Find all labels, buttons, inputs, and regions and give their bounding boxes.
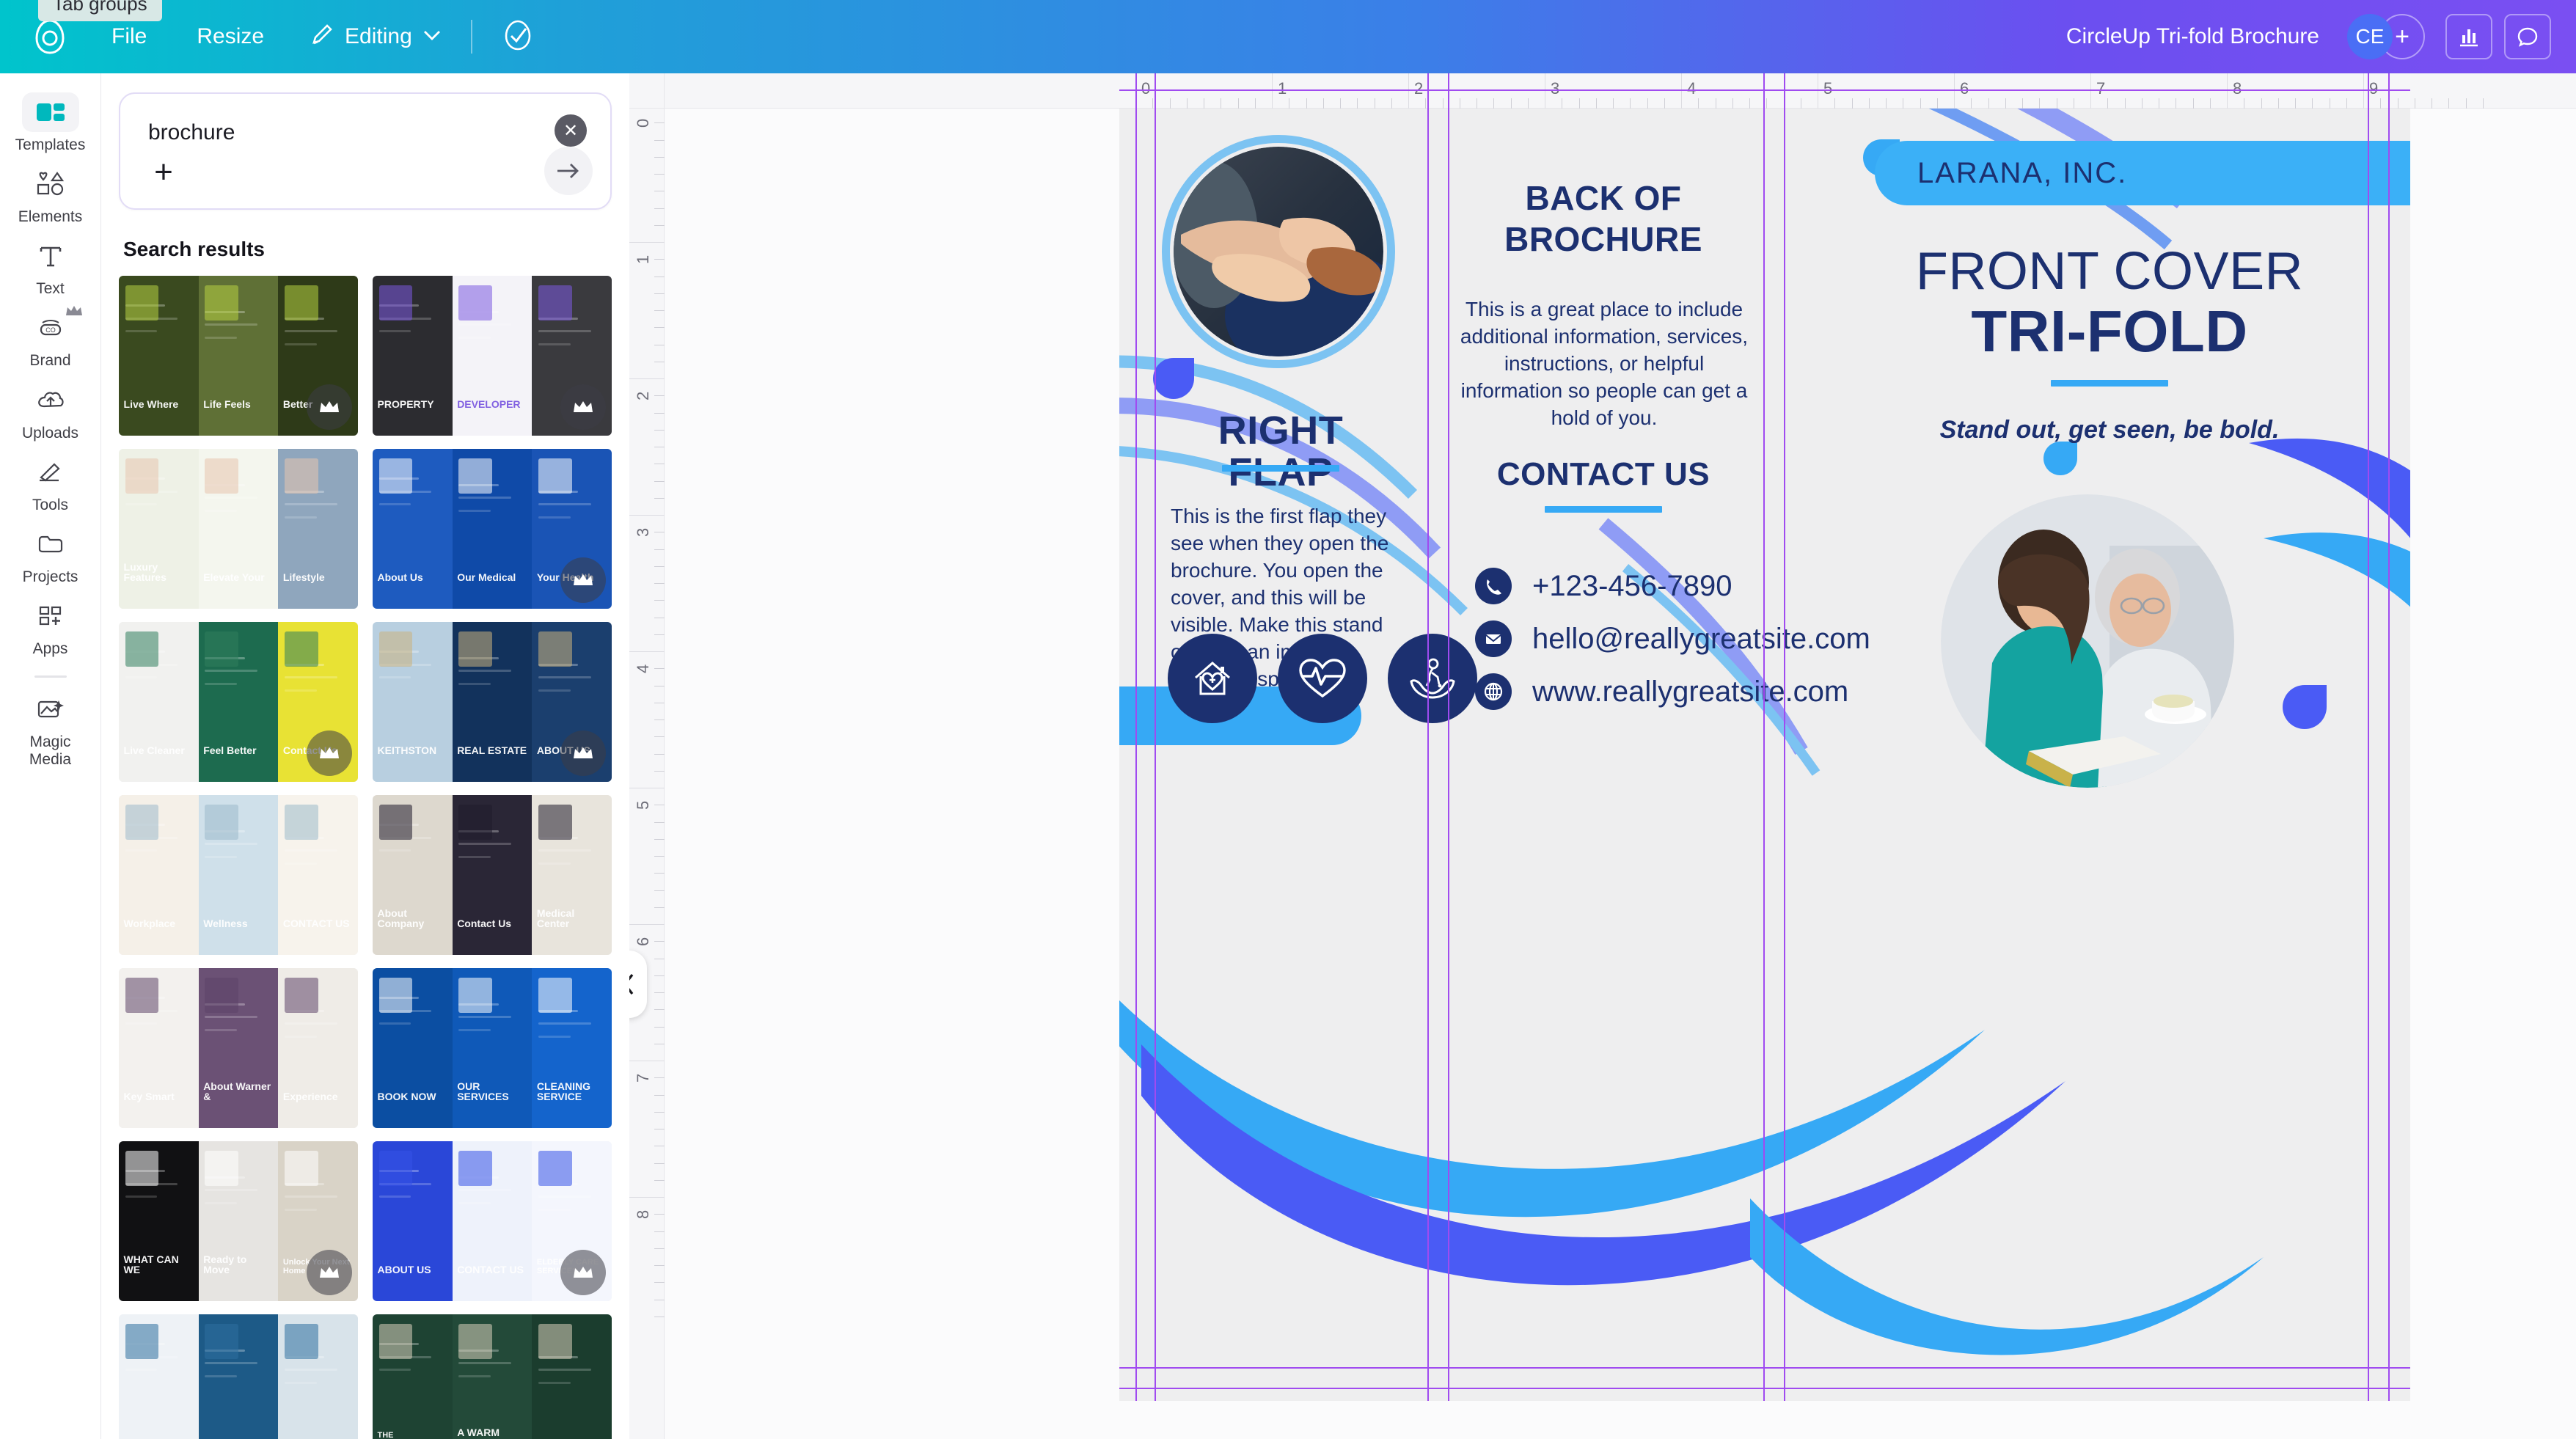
ruler-minor-tick [654, 1163, 665, 1164]
ruler-minor-tick [1766, 98, 1767, 109]
sidebar-item-brand[interactable]: COBrand [7, 308, 94, 370]
ruler-label: 0 [1141, 79, 1150, 98]
ruler-minor-tick [654, 191, 665, 191]
guide-line [1784, 54, 1785, 1401]
ruler-minor-tick [654, 1248, 665, 1249]
template-thumbnail[interactable]: Live CleanerFeel BetterContact Us [119, 622, 358, 782]
canvas-area[interactable]: RIGHT FLAP This is the first flap they s… [629, 73, 2576, 1439]
ruler-label: 6 [634, 937, 653, 946]
elements-icon [22, 164, 79, 204]
sidebar-item-label: Uploads [22, 425, 78, 442]
ruler-tick [629, 1061, 665, 1061]
ruler-minor-tick [2057, 98, 2057, 109]
uploads-cloud-icon [22, 381, 79, 420]
sidebar-item-label: Text [36, 280, 65, 298]
ruler-minor-tick [654, 822, 665, 823]
template-thumbnail[interactable]: KEITHSTONREAL ESTATEABOUT US [373, 622, 612, 782]
ruler-minor-tick [2159, 98, 2159, 109]
front-cover-title-light: FRONT COVER [1889, 244, 2330, 299]
ruler-minor-tick [2295, 98, 2296, 109]
pro-crown-icon [560, 1250, 606, 1295]
ruler-minor-tick [2022, 98, 2023, 109]
ruler-minor-tick [654, 1129, 665, 1129]
ruler-tick [1954, 73, 1955, 109]
sidebar-item-label: Apps [33, 640, 68, 658]
ruler-minor-tick [654, 583, 665, 584]
svg-text:CO: CO [45, 326, 56, 334]
ruler-minor-tick [1834, 98, 1835, 109]
ruler-minor-tick [654, 600, 665, 601]
website-url: www.reallygreatsite.com [1532, 675, 1848, 708]
ruler-tick [1681, 73, 1682, 109]
pro-crown-icon [307, 384, 352, 430]
search-input[interactable]: brochure [148, 120, 235, 145]
rail-divider [34, 675, 67, 678]
caregiver-and-elderly-woman-photo[interactable] [1941, 494, 2234, 788]
toolbar-divider [471, 20, 472, 54]
front-cover-tagline: Stand out, get seen, be bold. [1911, 414, 2308, 447]
ruler-minor-tick [654, 703, 665, 703]
pro-crown-icon [65, 305, 84, 321]
teardrop-indigo-right-icon [2283, 685, 2327, 733]
templates-panel: brochure ✕ + Search results Live WhereLi… [101, 73, 629, 1439]
ruler-minor-tick [1562, 98, 1562, 109]
ruler-minor-tick [654, 907, 665, 908]
ruler-tick [1818, 73, 1818, 109]
ruler-minor-tick [654, 293, 665, 294]
ruler-minor-tick [654, 122, 665, 123]
template-thumbnail[interactable]: About UsOur MedicalYour Health [373, 449, 612, 609]
ruler-minor-tick [654, 1231, 665, 1232]
sidebar-item-label: Tools [32, 497, 68, 514]
ruler-minor-tick [654, 686, 665, 686]
tools-pen-icon [22, 453, 79, 492]
ruler-minor-tick [654, 736, 665, 737]
ruler-label: 5 [634, 801, 653, 810]
ruler-minor-tick [1306, 98, 1307, 109]
ruler-minor-tick [654, 890, 665, 891]
ruler-minor-tick [654, 1282, 665, 1283]
company-name: LARANA, INC. [1917, 157, 2127, 190]
right-flap-heading: RIGHT FLAP [1171, 410, 1391, 494]
template-thumbnail[interactable]: WHAT CAN WEReady to MoveUnlock Your Next… [119, 1141, 358, 1301]
template-thumbnail[interactable]: PROPERTYDEVELOPER [373, 276, 612, 436]
ruler-minor-tick [2244, 98, 2244, 109]
ruler-minor-tick [1152, 98, 1153, 109]
ruler-minor-tick [654, 975, 665, 976]
ruler-minor-tick [654, 481, 665, 482]
guide-line [1119, 89, 2410, 91]
ruler-minor-tick [1988, 98, 1989, 109]
sidebar-item-tools[interactable]: Tools [7, 453, 94, 514]
ruler-tick [629, 924, 665, 925]
ruler-minor-tick [2346, 98, 2347, 109]
guide-line [1427, 54, 1429, 1401]
sidebar-item-label: Brand [29, 352, 70, 370]
service-icon-elderly-care[interactable] [1388, 634, 1477, 723]
ruler-minor-tick [654, 532, 665, 532]
ruler-minor-tick [654, 1180, 665, 1181]
ruler-label: 8 [634, 1210, 653, 1219]
tab-groups-tooltip: Tab groups [38, 0, 162, 21]
magic-media-icon [22, 689, 79, 729]
ruler-tick [2090, 73, 2091, 109]
ruler-minor-tick [2483, 98, 2484, 109]
ruler-tick [629, 242, 665, 243]
ruler-minor-tick [2330, 98, 2330, 109]
ruler-minor-tick [1425, 98, 1426, 109]
ruler-minor-tick [2415, 98, 2415, 109]
ruler-minor-tick [1801, 98, 1801, 109]
ruler-tick [2227, 73, 2228, 109]
pro-crown-icon [307, 1250, 352, 1295]
editing-mode-dropdown[interactable]: Editing [308, 22, 442, 52]
ruler-minor-tick [1238, 98, 1239, 109]
ruler-minor-tick [654, 618, 665, 618]
search-box[interactable]: brochure ✕ + [119, 92, 612, 210]
ruler-minor-tick [2107, 98, 2108, 109]
ruler-minor-tick [2193, 98, 2194, 109]
ruler-minor-tick [654, 327, 665, 328]
ruler-minor-tick [654, 395, 665, 396]
sidebar-item-templates[interactable]: Templates [7, 92, 94, 154]
ruler-minor-tick [1596, 98, 1597, 109]
ruler-tick [1408, 73, 1409, 109]
ruler-label: 1 [1278, 79, 1287, 98]
ruler-minor-tick [654, 634, 665, 635]
guide-line [1155, 54, 1156, 1401]
ruler-minor-tick [2039, 98, 2040, 109]
pro-crown-icon [560, 731, 606, 776]
ruler-minor-tick [654, 259, 665, 260]
sidebar-item-elements[interactable]: Elements [7, 164, 94, 226]
ruler-minor-tick [1937, 98, 1938, 109]
ruler-label: 0 [634, 119, 653, 128]
ruler-tick [629, 1197, 665, 1198]
guide-line [2368, 54, 2369, 1401]
ruler-minor-tick [654, 959, 665, 959]
ruler-minor-tick [654, 549, 665, 550]
ruler-minor-tick [2176, 98, 2176, 109]
ruler-minor-tick [2448, 98, 2449, 109]
ruler-label: 7 [634, 1074, 653, 1083]
avatar[interactable]: CE [2347, 14, 2393, 59]
front-cover-title-bold: TRI-FOLD [1889, 301, 2330, 363]
email-icon [1475, 620, 1512, 657]
pencil-icon [308, 22, 334, 52]
contact-rule [1545, 506, 1662, 513]
vertical-ruler[interactable]: 012345678 [629, 73, 665, 1439]
ruler-minor-tick [1375, 98, 1375, 109]
design-surface[interactable]: RIGHT FLAP This is the first flap they s… [1119, 54, 2410, 1401]
ruler-minor-tick [654, 941, 665, 942]
brochure-page[interactable]: RIGHT FLAP This is the first flap they s… [1119, 54, 2410, 1401]
right-flap-rule [1222, 465, 1339, 472]
ruler-minor-tick [654, 839, 665, 840]
clear-search-button[interactable]: ✕ [555, 114, 587, 147]
sidebar-item-label: Elements [18, 208, 83, 226]
ruler-minor-tick [654, 464, 665, 464]
ruler-label: 5 [1823, 79, 1832, 98]
ruler-label: 1 [634, 255, 653, 264]
document-title[interactable]: CircleUp Tri-fold Brochure [2066, 24, 2319, 49]
ruler-minor-tick [654, 345, 665, 345]
ruler-minor-tick [1579, 98, 1580, 109]
ruler-minor-tick [654, 566, 665, 567]
guide-line [1135, 54, 1137, 1401]
ruler-label: 4 [1687, 79, 1696, 98]
ruler-minor-tick [654, 668, 665, 669]
ruler-tick [629, 515, 665, 516]
comment-bubble-icon[interactable] [2504, 14, 2551, 59]
ruler-minor-tick [1323, 98, 1324, 109]
ruler-minor-tick [2278, 98, 2279, 109]
ruler-minor-tick [654, 1044, 665, 1044]
teardrop-cyan-small-icon [2043, 442, 2077, 479]
back-body-text: This is a great place to include additio… [1453, 296, 1755, 432]
ruler-minor-tick [654, 1300, 665, 1300]
ruler-minor-tick [1528, 98, 1529, 109]
ruler-minor-tick [654, 277, 665, 277]
sidebar-item-magic-media[interactable]: Magic Media [7, 689, 94, 769]
sidebar-item-label: Projects [23, 568, 78, 586]
guide-line [1448, 54, 1449, 1401]
ruler-minor-tick [2261, 98, 2262, 109]
template-results-grid: Live WhereLife FeelsBetterPROPERTYDEVELO… [101, 276, 629, 1439]
sidebar-item-apps[interactable]: Apps [7, 596, 94, 658]
phone-number: +123-456-7890 [1532, 570, 1732, 603]
template-thumbnail[interactable]: Key SmartAbout Warner &Experience [119, 968, 358, 1128]
ruler-minor-tick [1340, 98, 1341, 109]
hands-holding-photo[interactable] [1174, 147, 1383, 356]
menu-resize[interactable]: Resize [188, 18, 273, 55]
ruler-label: 9 [2369, 79, 2378, 98]
ruler-minor-tick [1613, 98, 1614, 109]
saved-check-icon[interactable] [502, 18, 534, 56]
company-tag-pill[interactable]: LARANA, INC. [1875, 141, 2410, 205]
ruler-minor-tick [1289, 98, 1289, 109]
ruler-minor-tick [654, 1095, 665, 1096]
ruler-minor-tick [654, 208, 665, 209]
template-thumbnail[interactable]: WorkplaceWellnessCONTACT US [119, 795, 358, 955]
ruler-minor-tick [654, 140, 665, 141]
ruler-minor-tick [1391, 98, 1392, 109]
template-thumbnail[interactable]: Key FeaturesAbout Us [119, 1314, 358, 1439]
ruler-minor-tick [1749, 98, 1750, 109]
ruler-minor-tick [1869, 98, 1870, 109]
sidebar-item-label: Magic Media [7, 733, 94, 769]
ruler-minor-tick [654, 873, 665, 874]
contact-row-website[interactable]: www.reallygreatsite.com [1475, 673, 1848, 710]
globe-icon [1475, 673, 1512, 710]
service-icon-heartbeat[interactable] [1278, 634, 1367, 723]
canva-logo-icon[interactable] [29, 16, 70, 57]
ruler-minor-tick [654, 992, 665, 993]
menu-file[interactable]: File [103, 18, 155, 55]
ruler-minor-tick [654, 856, 665, 857]
submit-search-button[interactable] [544, 147, 593, 195]
templates-icon [22, 92, 79, 132]
email-address: hello@reallygreatsite.com [1532, 623, 1870, 656]
ruler-minor-tick [2005, 98, 2006, 109]
service-icon-home-care[interactable] [1168, 634, 1257, 723]
ruler-minor-tick [1443, 98, 1443, 109]
teardrop-indigo-icon [1153, 358, 1194, 403]
ruler-tick [629, 378, 665, 379]
ruler-minor-tick [1493, 98, 1494, 109]
text-icon [22, 236, 79, 276]
ruler-tick [1272, 73, 1273, 109]
ruler-minor-tick [654, 1009, 665, 1010]
sidebar-item-uploads[interactable]: Uploads [7, 381, 94, 442]
ruler-minor-tick [1477, 98, 1477, 109]
ruler-minor-tick [654, 1146, 665, 1146]
guide-line [1119, 1388, 2410, 1389]
ruler-label: 2 [1414, 79, 1423, 98]
ruler-minor-tick [654, 754, 665, 755]
ruler-minor-tick [1187, 98, 1188, 109]
collaborator-avatars: CE + [2347, 14, 2434, 59]
ruler-minor-tick [2142, 98, 2143, 109]
phone-icon [1475, 568, 1512, 604]
sidebar-item-projects[interactable]: Projects [7, 524, 94, 586]
ruler-minor-tick [2312, 98, 2313, 109]
ruler-corner [629, 73, 665, 109]
guide-line [2388, 54, 2390, 1401]
ruler-minor-tick [2432, 98, 2432, 109]
ruler-minor-tick [1255, 98, 1256, 109]
ruler-minor-tick [654, 1027, 665, 1028]
editing-label: Editing [345, 24, 412, 49]
horizontal-ruler[interactable]: 0123456789 [629, 73, 2576, 109]
ruler-minor-tick [654, 310, 665, 311]
ruler-minor-tick [654, 225, 665, 226]
ruler-minor-tick [2398, 98, 2398, 109]
back-heading-line1: BACK OF [1457, 180, 1750, 216]
ruler-minor-tick [1971, 98, 1972, 109]
ruler-minor-tick [1920, 98, 1921, 109]
ruler-minor-tick [654, 1077, 665, 1078]
ruler-minor-tick [1511, 98, 1512, 109]
ruler-minor-tick [654, 174, 665, 175]
ruler-minor-tick [1664, 98, 1665, 109]
ruler-minor-tick [654, 805, 665, 805]
ruler-minor-tick [654, 430, 665, 431]
toolbar-right-group: CircleUp Tri-fold Brochure CE + [2066, 0, 2551, 73]
ruler-minor-tick [1170, 98, 1171, 109]
ruler-label: 7 [2096, 79, 2105, 98]
ruler-tick [1545, 73, 1545, 109]
ruler-minor-tick [2380, 98, 2381, 109]
sidebar-item-label: Templates [15, 136, 86, 154]
ruler-minor-tick [654, 498, 665, 499]
chevron-down-icon [422, 29, 442, 45]
left-sidebar-rail: TemplatesElementsTextCOBrandUploadsTools… [0, 73, 101, 1439]
ruler-minor-tick [654, 1265, 665, 1266]
template-thumbnail[interactable]: ABOUT USCONTACT USELDERLY CARE SERVICES [373, 1141, 612, 1301]
projects-folder-icon [22, 524, 79, 564]
ruler-minor-tick [1903, 98, 1903, 109]
ruler-minor-tick [2074, 98, 2074, 109]
ruler-minor-tick [654, 719, 665, 720]
template-thumbnail[interactable]: BOOK NOWOUR SERVICESCLEANING SERVICE [373, 968, 612, 1128]
pro-crown-icon [560, 384, 606, 430]
ruler-minor-tick [1460, 98, 1460, 109]
guide-line [1763, 54, 1765, 1401]
ruler-minor-tick [2210, 98, 2211, 109]
contact-row-phone[interactable]: +123-456-7890 [1475, 568, 1732, 604]
ruler-label: 6 [1960, 79, 1969, 98]
ruler-label: 4 [634, 664, 653, 673]
ruler-minor-tick [1630, 98, 1631, 109]
ruler-minor-tick [1698, 98, 1699, 109]
back-heading-line2: BROCHURE [1457, 221, 1750, 257]
template-thumbnail[interactable]: Luxury FeaturesElevate YourLifestyle [119, 449, 358, 609]
template-thumbnail[interactable]: Live WhereLife FeelsBetter [119, 276, 358, 436]
ruler-tick [629, 651, 665, 652]
ruler-tick [629, 788, 665, 788]
ruler-minor-tick [1852, 98, 1853, 109]
ruler-label: 3 [634, 528, 653, 537]
template-thumbnail[interactable]: THE UNFORGETTABLEA WARM WELCOMEAWAITS YO… [373, 1314, 612, 1439]
ruler-minor-tick [654, 447, 665, 447]
ruler-label: 8 [2233, 79, 2242, 98]
ruler-minor-tick [654, 1317, 665, 1317]
ruler-minor-tick [654, 362, 665, 362]
pro-crown-icon [560, 557, 606, 603]
ruler-minor-tick [1886, 98, 1887, 109]
template-thumbnail[interactable]: About CompanyContact UsMedical Center [373, 795, 612, 955]
ruler-minor-tick [1647, 98, 1648, 109]
ruler-minor-tick [1732, 98, 1733, 109]
ruler-minor-tick [654, 157, 665, 158]
attach-media-button[interactable]: + [144, 153, 183, 192]
search-results-heading: Search results [123, 238, 629, 261]
insights-chart-icon[interactable] [2445, 14, 2492, 59]
ruler-minor-tick [2466, 98, 2467, 109]
contact-us-heading: CONTACT US [1457, 458, 1750, 492]
ruler-label: 3 [1551, 79, 1559, 98]
top-toolbar: Tab groups File Resize Editing CircleUp … [0, 0, 2576, 73]
front-cover-rule [2051, 380, 2168, 387]
ruler-minor-tick [2125, 98, 2126, 109]
sidebar-item-text[interactable]: Text [7, 236, 94, 298]
ruler-minor-tick [654, 413, 665, 414]
ruler-minor-tick [654, 1214, 665, 1215]
pro-crown-icon [307, 731, 352, 776]
ruler-minor-tick [1716, 98, 1716, 109]
ruler-minor-tick [1221, 98, 1221, 109]
apps-grid-icon [22, 596, 79, 636]
ruler-tick [2363, 73, 2364, 109]
guide-line [1119, 1367, 2410, 1369]
ruler-minor-tick [1357, 98, 1358, 109]
ruler-minor-tick [654, 1112, 665, 1113]
ruler-minor-tick [1204, 98, 1204, 109]
ruler-minor-tick [654, 771, 665, 772]
contact-row-email[interactable]: hello@reallygreatsite.com [1475, 620, 1870, 657]
ruler-label: 2 [634, 392, 653, 400]
